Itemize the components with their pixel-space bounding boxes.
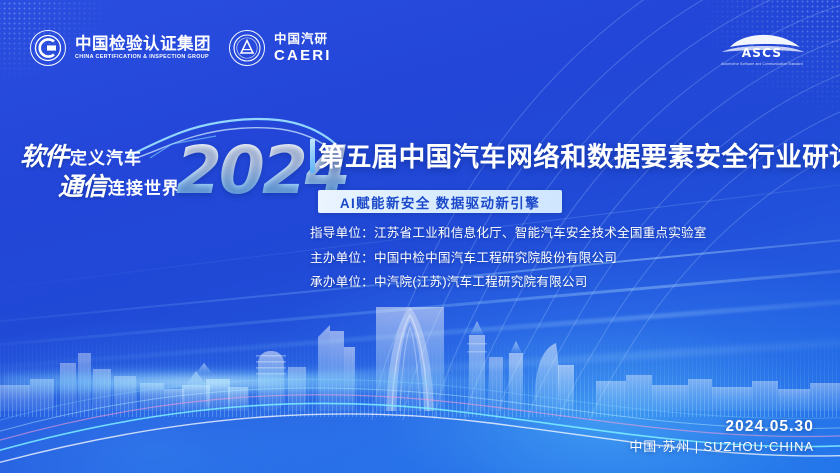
hero-section: 软件 定义汽车 通信 连接世界 2024 第五届中国汽车网络和数据要素安全行业研… xyxy=(0,108,840,288)
page-title: 第五届中国汽车网络和数据要素安全行业研讨会 xyxy=(318,144,840,171)
calligraphy-regular-1: 定义汽车 xyxy=(70,150,142,169)
organizer-line: 指导单位：江苏省工业和信息化厅、智能汽车安全技术全国重点实验室 xyxy=(310,222,707,241)
calligraphy-line-1: 软件 定义汽车 xyxy=(20,144,142,169)
calligraphy-slogan: 软件 定义汽车 通信 连接世界 xyxy=(18,144,188,212)
organizer-list: 指导单位：江苏省工业和信息化厅、智能汽车安全技术全国重点实验室 主办单位：中国中… xyxy=(310,222,707,290)
calligraphy-brush-2: 通信 xyxy=(58,174,106,199)
road-glow xyxy=(0,369,521,395)
footer-info: 2024.05.30 中国·苏州 | SUZHOU·CHINA xyxy=(629,417,814,455)
logo-ccic-name-en: CHINA CERTIFICATION & INSPECTION GROUP xyxy=(75,55,211,60)
subtitle-text: AI赋能新安全 数据驱动新引擎 xyxy=(340,192,540,212)
logo-ccic: 中国检验认证集团 CHINA CERTIFICATION & INSPECTIO… xyxy=(30,30,211,66)
calligraphy-line-2: 通信 连接世界 xyxy=(58,174,180,199)
title-accent-bar xyxy=(310,139,315,173)
header-logos: 中国检验认证集团 CHINA CERTIFICATION & INSPECTIO… xyxy=(30,30,332,66)
subtitle-banner: AI赋能新安全 数据驱动新引擎 xyxy=(318,190,562,213)
organizer-line: 承办单位：中汽院(江苏)汽车工程研究院有限公司 xyxy=(310,271,707,290)
logo-caeri-name-en: CAERI xyxy=(274,48,332,63)
organizer-line: 主办单位：中国中检中国汽车工程研究院股份有限公司 xyxy=(310,247,707,266)
logo-caeri-text: 中国汽研 CAERI xyxy=(274,33,332,63)
event-date: 2024.05.30 xyxy=(629,417,814,436)
logo-ccic-name-cn: 中国检验认证集团 xyxy=(75,36,211,53)
ccic-circle-emblem xyxy=(30,30,66,66)
svg-text:ASCS: ASCS xyxy=(742,46,782,60)
event-location: 中国·苏州 | SUZHOU·CHINA xyxy=(629,439,814,455)
calligraphy-brush-1: 软件 xyxy=(20,144,68,169)
logo-caeri-name-cn: 中国汽研 xyxy=(274,33,332,46)
logo-caeri: 中国汽研 CAERI xyxy=(229,30,332,66)
ascs-subtitle: Automotive Software and Communication St… xyxy=(721,62,803,66)
calligraphy-regular-2: 连接世界 xyxy=(108,180,180,199)
logo-ccic-text: 中国检验认证集团 CHINA CERTIFICATION & INSPECTIO… xyxy=(75,36,211,61)
caeri-circle-emblem xyxy=(229,30,265,66)
ascs-car-logo: ASCS Automotive Software and Communicati… xyxy=(712,28,812,68)
event-poster: 中国检验认证集团 CHINA CERTIFICATION & INSPECTIO… xyxy=(0,0,840,473)
